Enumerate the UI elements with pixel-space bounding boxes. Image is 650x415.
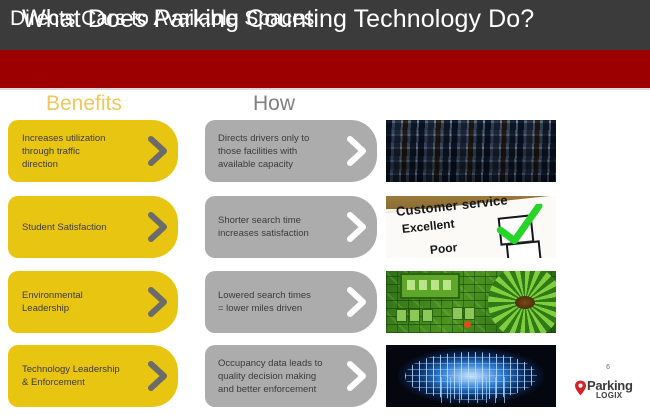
page-number: 6 [606,364,610,371]
chevron-right-icon [345,136,369,166]
customer-service-survey-photo: Customer service Excellent Poor [386,196,556,258]
chip-icon [400,273,460,299]
brain-stem-circuits [441,377,511,403]
packed-parking-lot-photo [386,120,556,182]
slide-canvas: What Does Parking Counting Technology Do… [0,0,650,415]
how-label: Shorter search time increases satisfacti… [218,196,337,258]
how-arrow-block[interactable]: Lowered search times = lower miles drive… [205,271,377,333]
parking-lot-cars-texture [386,120,556,182]
digital-brain-graphic [386,345,556,407]
solder-pad [409,309,420,322]
benefit-label: Student Satisfaction [22,196,138,258]
column-heading-benefits: Benefits [46,92,122,116]
chevron-right-icon [345,287,369,317]
how-label: Occupancy data leads to quality decision… [218,345,337,407]
green-checkmark-icon [492,203,548,248]
how-label: Directs drivers only to those facilities… [218,120,337,182]
benefit-label: Technology Leadership & Enforcement [22,345,138,407]
survey-form-graphic: Customer service Excellent Poor [386,196,556,258]
benefit-arrow-block[interactable]: Student Satisfaction [8,196,178,258]
survey-option-poor-text: Poor [429,240,458,257]
benefit-arrow-block[interactable]: Increases utilization through traffic di… [8,120,178,182]
subtitle-band [0,50,650,88]
how-arrow-block[interactable]: Occupancy data leads to quality decision… [205,345,377,407]
how-label: Lowered search times = lower miles drive… [218,271,337,333]
how-arrow-block[interactable]: Directs drivers only to those facilities… [205,120,377,182]
benefit-arrow-block[interactable]: Technology Leadership & Enforcement [8,345,178,407]
solder-pad [422,309,433,322]
red-led-dot [464,321,471,328]
band-divider [0,88,650,90]
chevron-right-icon [146,212,170,242]
map-pin-icon [574,380,587,396]
benefit-label: Increases utilization through traffic di… [22,120,138,182]
chevron-right-icon [146,287,170,317]
chevron-right-icon [345,361,369,391]
parking-logix-logo: Parking LOGIX [574,377,644,403]
digital-brain-photo [386,345,556,407]
page-subtitle: Directs Cars to Available Spaces [10,7,314,31]
chevron-right-icon [345,212,369,242]
eco-circuit-graphic [386,271,556,333]
chevron-right-icon [146,136,170,166]
column-heading-how: How [253,92,295,116]
solder-pad [464,307,475,320]
chevron-right-icon [146,361,170,391]
solder-pad [396,309,407,322]
how-arrow-block[interactable]: Shorter search time increases satisfacti… [205,196,377,258]
green-circuit-board-flower-photo [386,271,556,333]
solder-pad [452,307,463,320]
benefit-arrow-block[interactable]: Environmental Leadership [8,271,178,333]
green-flower-icon [488,271,556,333]
logo-word-logix: LOGIX [596,391,622,400]
benefit-label: Environmental Leadership [22,271,138,333]
